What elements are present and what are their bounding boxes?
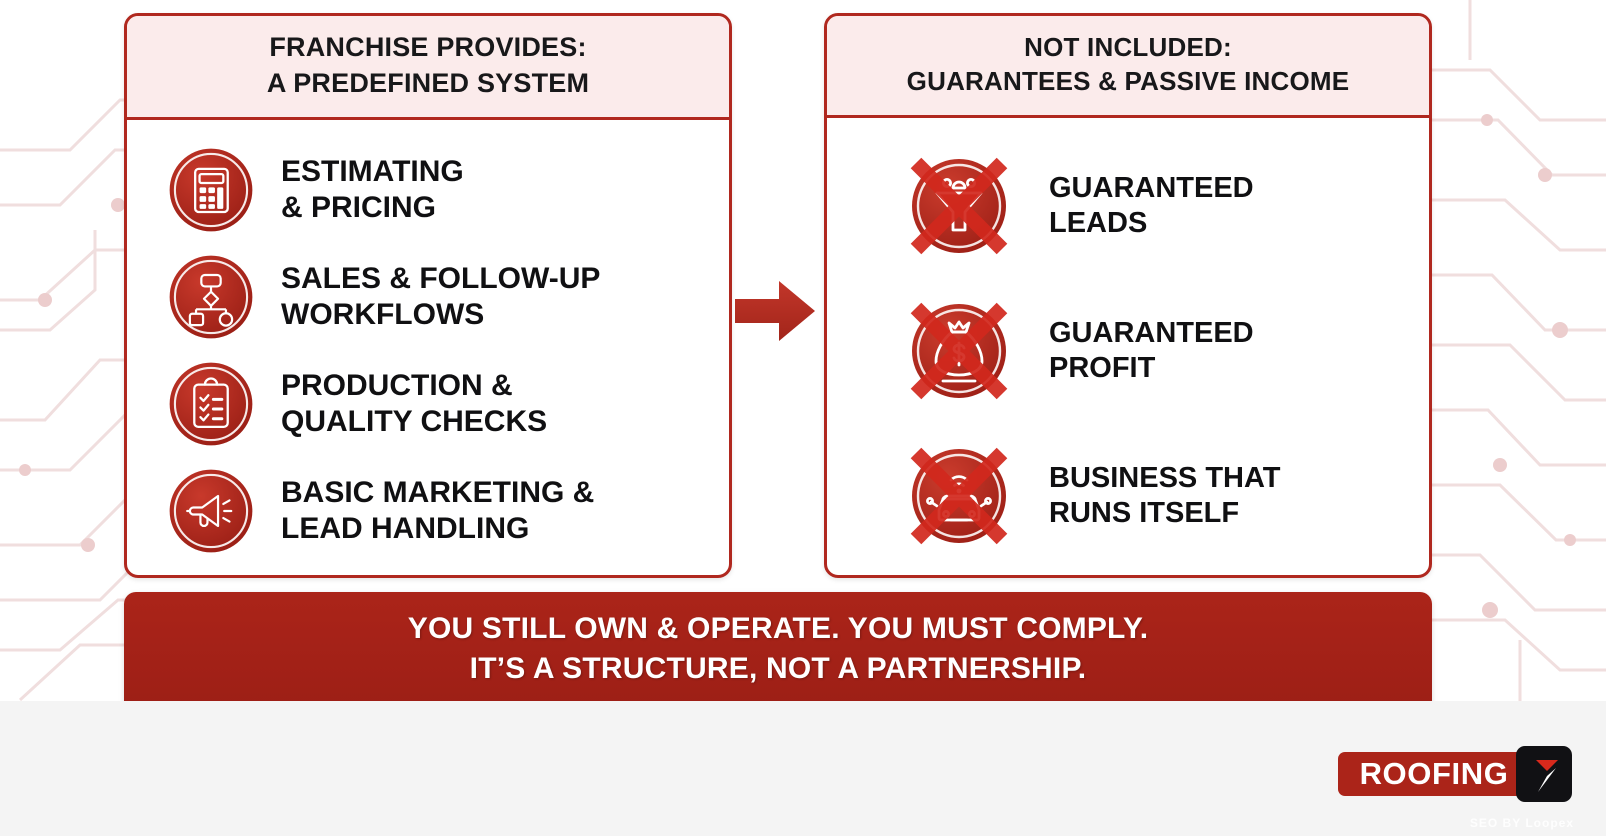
funnel-icon — [899, 146, 1019, 266]
panel-header-right: NOT INCLUDED: GUARANTEES & PASSIVE INCOM… — [827, 16, 1429, 118]
panel-header-right-line-1: NOT INCLUDED: — [837, 30, 1419, 64]
list-item-sales-followup-workflows: SALES & FOLLOW-UP WORKFLOWS — [127, 243, 729, 350]
footer-area: ROOFING SEO BY Loopex — [0, 701, 1606, 836]
workflow-icon — [167, 253, 255, 341]
loopex-triangle-icon — [1516, 746, 1572, 802]
panel-body-left: ESTIMATING & PRICING — [127, 120, 729, 564]
panel-header-left-line-1: FRANCHISE PROVIDES: — [137, 30, 719, 66]
logo-wordmark: ROOFING — [1338, 752, 1530, 796]
roofing-seo-logo[interactable]: ROOFING SEO BY Loopex — [1326, 738, 1588, 830]
logo-subtitle: SEO BY Loopex — [1470, 816, 1574, 830]
list-item-label: SALES & FOLLOW-UP WORKFLOWS — [281, 261, 600, 333]
list-item-business-that-runs-itself: BUSINESS THAT RUNS ITSELF — [827, 424, 1429, 569]
list-item-guaranteed-leads: GUARANTEED LEADS — [827, 134, 1429, 279]
panel-header-right-line-2: GUARANTEES & PASSIVE INCOME — [837, 64, 1419, 98]
list-item-label: PRODUCTION & QUALITY CHECKS — [281, 368, 547, 440]
megaphone-icon — [167, 467, 255, 555]
self-driving-car-icon — [899, 436, 1019, 556]
calculator-icon — [167, 146, 255, 234]
list-item-estimating-pricing: ESTIMATING & PRICING — [127, 136, 729, 243]
list-item-label: BASIC MARKETING & LEAD HANDLING — [281, 475, 594, 547]
clipboard-check-icon — [167, 360, 255, 448]
bottom-banner: YOU STILL OWN & OPERATE. YOU MUST COMPLY… — [124, 592, 1432, 701]
money-bag-icon — [899, 291, 1019, 411]
not-included-panel: NOT INCLUDED: GUARANTEES & PASSIVE INCOM… — [824, 13, 1432, 578]
franchise-provides-panel: FRANCHISE PROVIDES: A PREDEFINED SYSTEM — [124, 13, 732, 578]
right-arrow-icon — [735, 275, 817, 347]
panel-header-left-line-2: A PREDEFINED SYSTEM — [137, 66, 719, 102]
panel-header-left: FRANCHISE PROVIDES: A PREDEFINED SYSTEM — [127, 16, 729, 120]
banner-line-2: IT’S A STRUCTURE, NOT A PARTNERSHIP. — [124, 649, 1432, 689]
panel-body-right: GUARANTEED LEADS — [827, 118, 1429, 569]
banner-line-1: YOU STILL OWN & OPERATE. YOU MUST COMPLY… — [124, 609, 1432, 649]
list-item-label: ESTIMATING & PRICING — [281, 154, 464, 226]
list-item-label: GUARANTEED LEADS — [1049, 171, 1254, 241]
list-item-guaranteed-profit: GUARANTEED PROFIT — [827, 279, 1429, 424]
list-item-basic-marketing-lead-handling: BASIC MARKETING & LEAD HANDLING — [127, 457, 729, 564]
list-item-label: BUSINESS THAT RUNS ITSELF — [1049, 461, 1280, 531]
infographic-screenshot: FRANCHISE PROVIDES: A PREDEFINED SYSTEM — [0, 0, 1606, 836]
list-item-label: GUARANTEED PROFIT — [1049, 316, 1254, 386]
list-item-production-quality-checks: PRODUCTION & QUALITY CHECKS — [127, 350, 729, 457]
infographic-canvas: FRANCHISE PROVIDES: A PREDEFINED SYSTEM — [0, 0, 1606, 701]
